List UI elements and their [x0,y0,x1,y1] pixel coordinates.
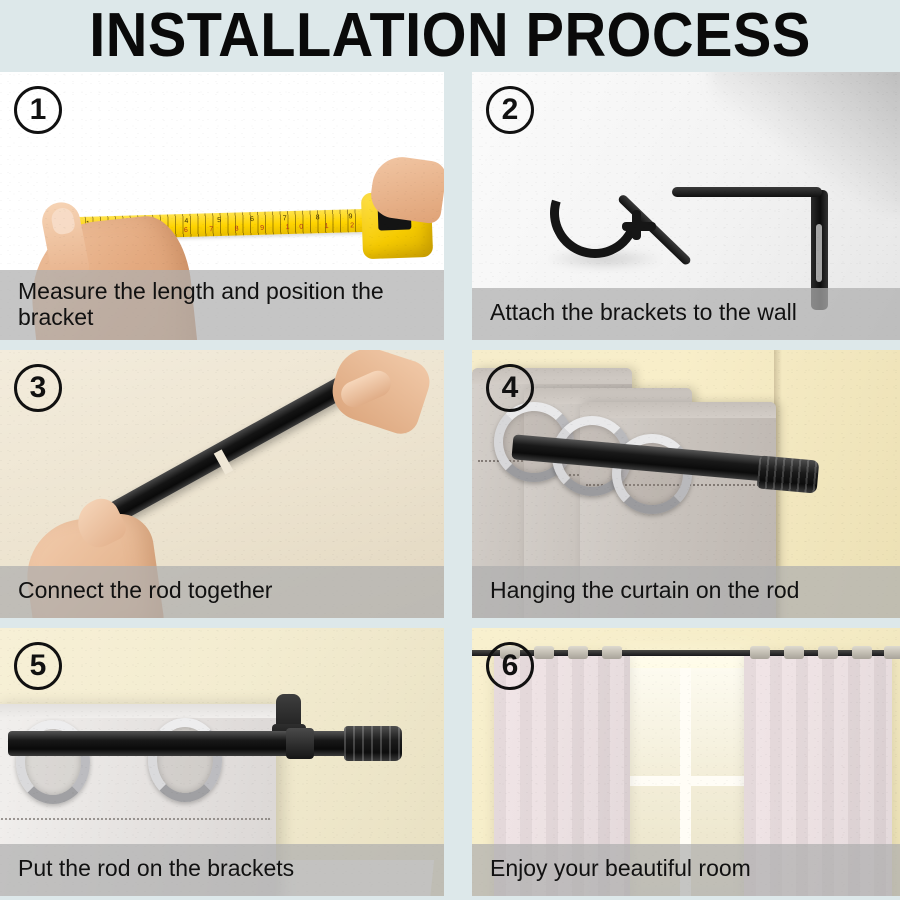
step-panel-1: 1 2 3 4 5 6 7 8 9 2 3 4 5 6 7 8 9 10 1 2… [0,72,444,340]
bracket-arm [672,187,822,197]
rod-finial [757,455,820,493]
finial-ribbing [344,726,402,761]
curtain-grommet [568,646,588,659]
step-caption-3: Connect the rod together [0,566,444,618]
step-caption-4: Hanging the curtain on the rod [472,566,900,618]
step-panel-2: 2 Attach the brackets to the wall [472,72,900,340]
curtain-grommet [534,646,554,659]
curtain-grommet [602,646,622,659]
curtain-grommet [784,646,804,659]
bracket-set-screw-shaft [632,210,641,240]
curtain-stitch-line [0,818,270,820]
finial-ribbing [757,455,820,493]
step-panel-6: 6 Enjoy your beautiful room [472,628,900,896]
step-number-badge-4: 4 [486,364,534,412]
step-number-badge-5: 5 [14,642,62,690]
step-caption-5: Put the rod on the brackets [0,844,444,896]
step-panel-4: 4 Hanging the curtain on the rod [472,350,900,618]
curtain-grommet [884,646,900,659]
step-caption-2: Attach the brackets to the wall [472,288,900,340]
step-number-badge-3: 3 [14,364,62,412]
curtain-grommet [750,646,770,659]
step-number-badge-6: 6 [486,642,534,690]
step-panel-3: 3 Connect the rod together [0,350,444,618]
installation-process-infographic: INSTALLATION PROCESS 1 2 3 4 5 6 7 8 9 2… [0,0,900,900]
bracket-screw-slot [816,224,822,282]
curtain-grommet [852,646,872,659]
step-number-badge-1: 1 [14,86,62,134]
curtain-rod [8,731,398,756]
curtain-top-fold [0,704,276,718]
rod-finial [344,726,402,761]
window-mullion-horizontal [624,776,748,786]
step-caption-6: Enjoy your beautiful room [472,844,900,896]
page-title: INSTALLATION PROCESS [32,0,869,72]
step-panel-5: 5 Put the rod on the brackets [0,628,444,896]
step-number-badge-2: 2 [486,86,534,134]
curtain-top-fold [580,402,776,418]
curtain-grommet [818,646,838,659]
rod-coupler [286,728,314,759]
step-caption-1: Measure the length and position the brac… [0,270,444,340]
